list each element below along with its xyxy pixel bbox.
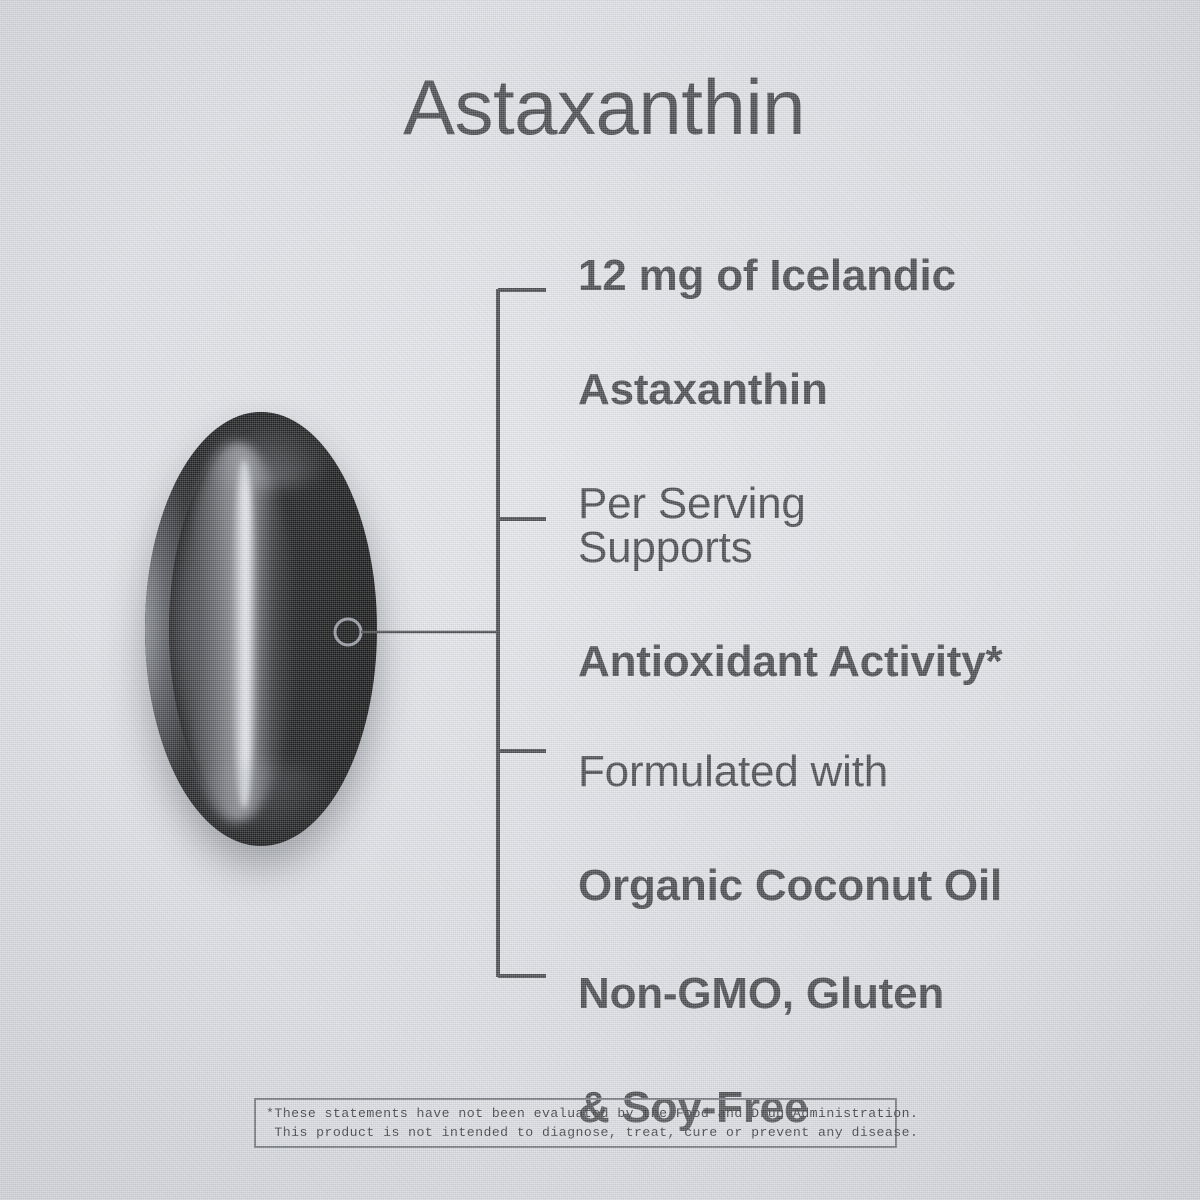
- disclaimer-line-1: *These statements have not been evaluate…: [266, 1104, 885, 1123]
- softgel-capsule-body: [145, 412, 377, 846]
- feature-line: Supports: [578, 519, 1002, 576]
- feature-line: Formulated with: [578, 743, 1002, 800]
- disclaimer-line-2: This product is not intended to diagnose…: [266, 1123, 885, 1142]
- feature-non-gmo: Non-GMO, Gluten & Soy-Free: [578, 908, 944, 1193]
- feature-line: Antioxidant Activity*: [578, 633, 1002, 690]
- fda-disclaimer-box: *These statements have not been evaluate…: [254, 1098, 897, 1148]
- softgel-top-sheen: [197, 418, 337, 488]
- infographic-canvas: Astaxanthin 12 mg of Icelandic Astaxanth…: [0, 0, 1200, 1200]
- softgel-bottom-sheen: [189, 764, 339, 840]
- feature-line: Astaxanthin: [578, 361, 956, 418]
- feature-line: Organic Coconut Oil: [578, 857, 1002, 914]
- softgel-capsule-image: [138, 402, 388, 854]
- feature-line: Non-GMO, Gluten: [578, 965, 944, 1022]
- page-title: Astaxanthin: [0, 68, 1200, 146]
- softgel-specular-streak: [231, 460, 257, 808]
- feature-line: 12 mg of Icelandic: [578, 247, 956, 304]
